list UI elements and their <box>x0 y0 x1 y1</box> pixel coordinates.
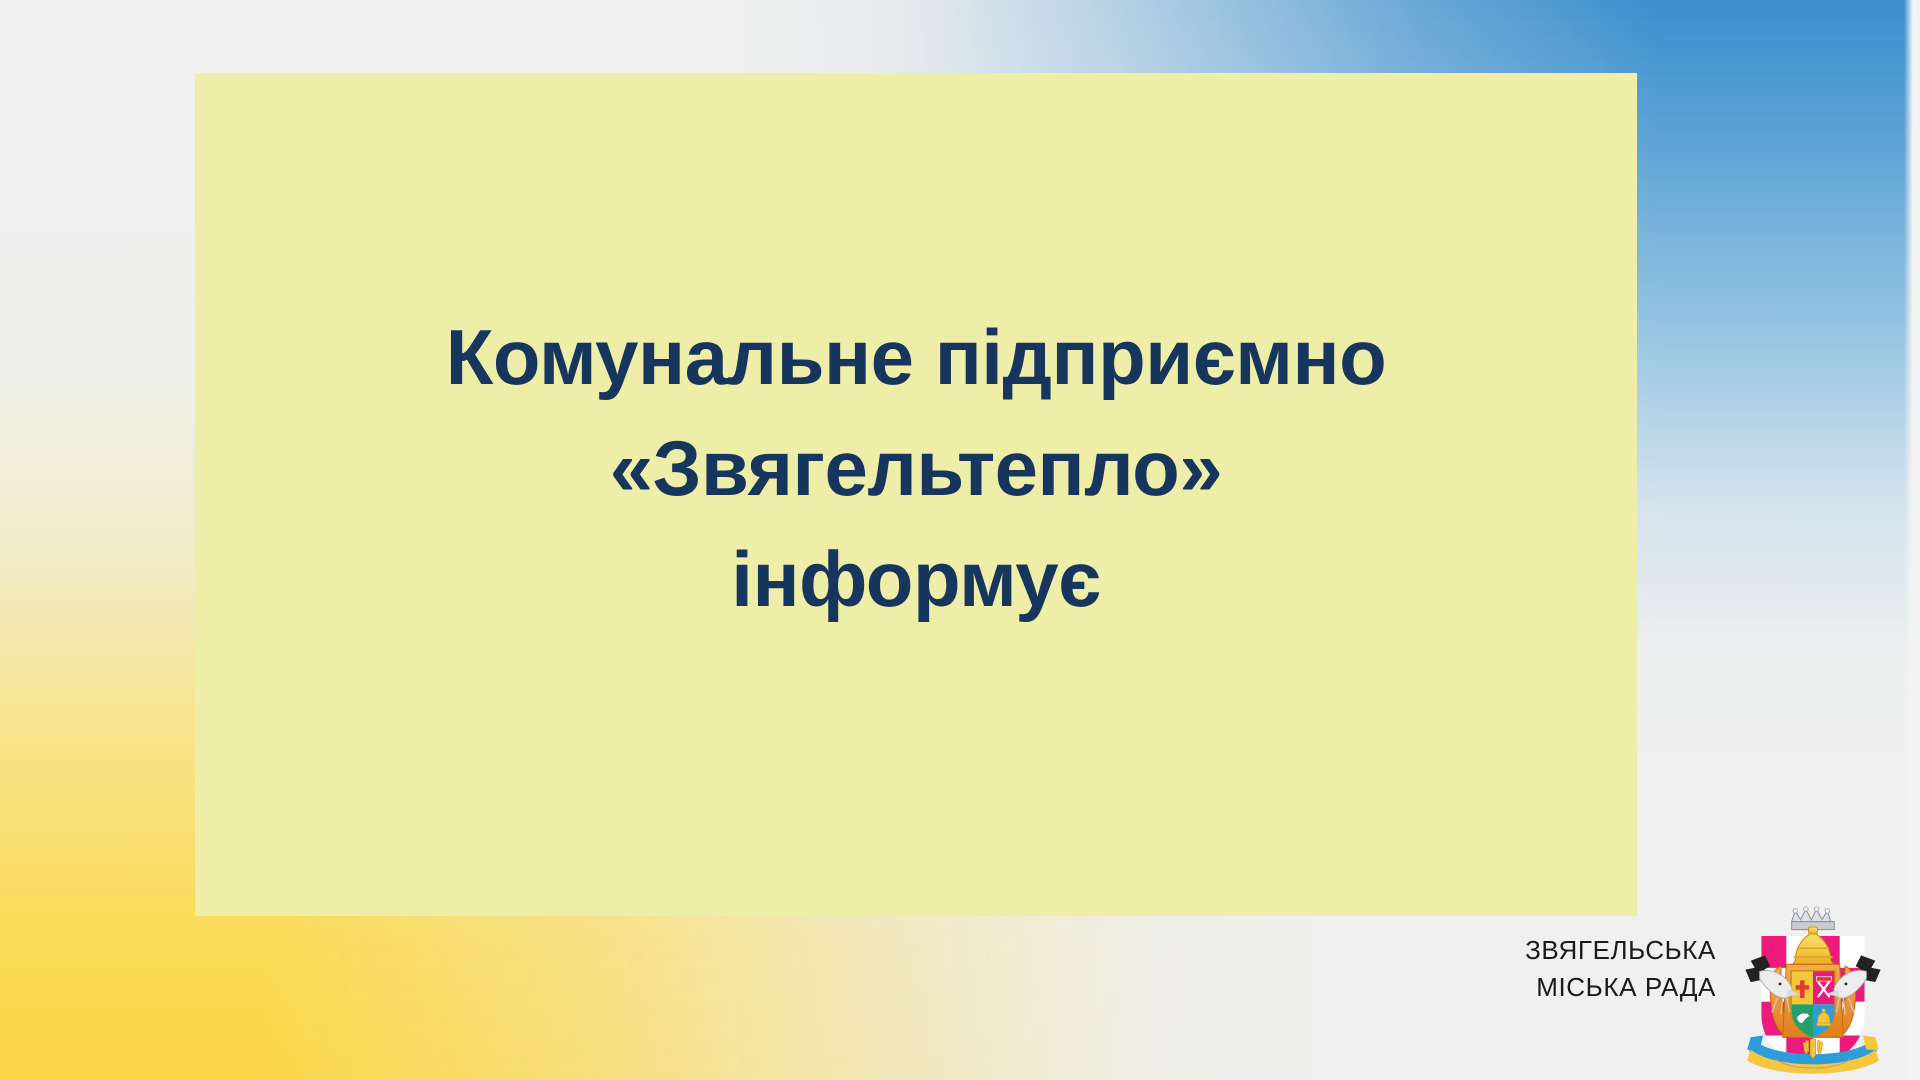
slide-title: Комунальне підприємно «Звягельтепло» інф… <box>195 302 1637 686</box>
coat-of-arms-icon <box>1724 902 1902 1080</box>
brand-line-1: ЗВЯГЕЛЬСЬКА <box>1525 932 1716 969</box>
brand-text: ЗВЯГЕЛЬСЬКА МІСЬКА РАДА <box>1525 932 1716 1050</box>
title-line-1: Комунальне підприємно <box>195 302 1637 413</box>
presentation-slide: Комунальне підприємно «Звягельтепло» інф… <box>0 0 1920 1080</box>
brand-lockup: ЗВЯГЕЛЬСЬКА МІСЬКА РАДА <box>1525 902 1902 1080</box>
title-line-2: «Звягельтепло» <box>195 413 1637 524</box>
crown-part <box>1792 907 1835 930</box>
brand-line-2: МІСЬКА РАДА <box>1525 969 1716 1006</box>
title-line-3: інформує <box>195 524 1637 635</box>
background-right-edge-strip <box>1904 0 1920 1080</box>
title-card: Комунальне підприємно «Звягельтепло» інф… <box>195 73 1637 916</box>
